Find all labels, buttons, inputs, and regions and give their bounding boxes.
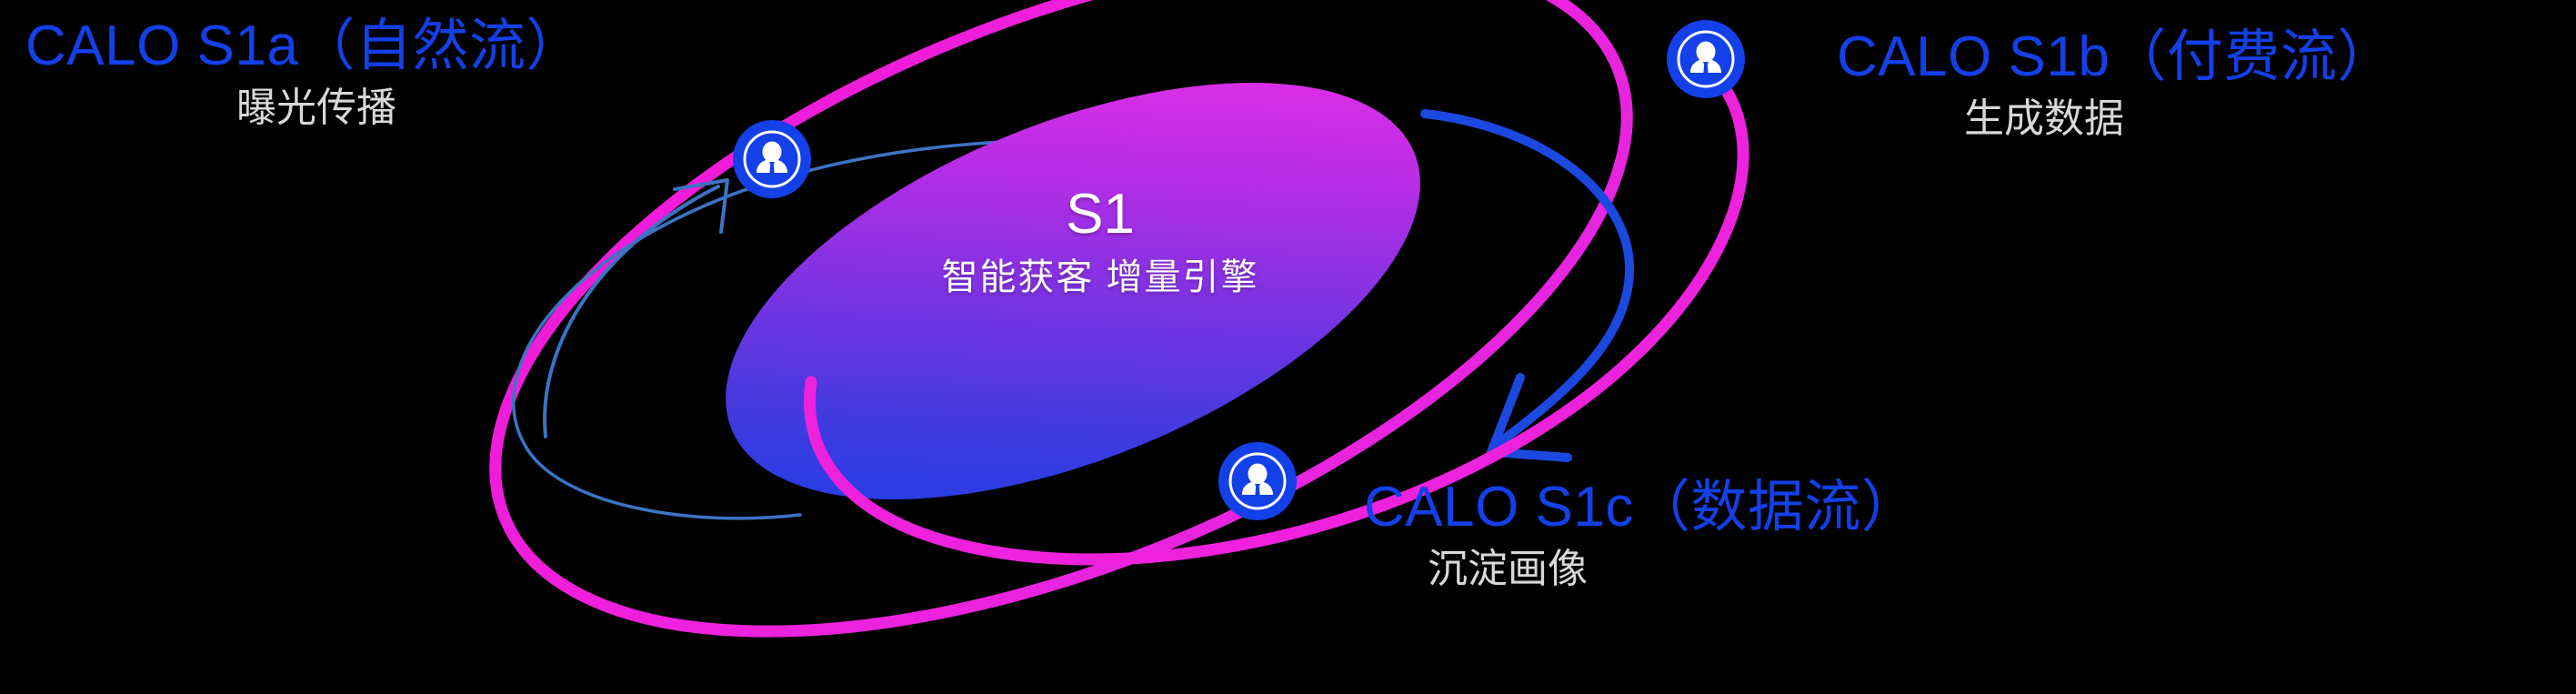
label-title-s1b: CALO S1b（付费流） [1837, 27, 2394, 86]
diagram-canvas: S1 智能获客 增量引擎 CALO S1a（自然流） 曝光传播 CALO S1b… [0, 0, 2576, 694]
core-ellipse [668, 0, 1478, 585]
label-subtitle-s1c: 沉淀画像 [1428, 548, 1918, 591]
label-subtitle-s1b: 生成数据 [1964, 97, 2394, 141]
label-group-s1b: CALO S1b（付费流） 生成数据 [1837, 27, 2394, 141]
node-icon-s1a[interactable] [733, 120, 811, 198]
label-group-s1c: CALO S1c（数据流） 沉淀画像 [1364, 478, 1918, 591]
node-icon-s1b[interactable] [1667, 20, 1745, 98]
label-title-s1c: CALO S1c（数据流） [1364, 478, 1918, 537]
inner-blue-arrow-down-right [1425, 114, 1629, 458]
label-subtitle-s1a: 曝光传播 [236, 86, 583, 130]
label-title-s1a: CALO S1a（自然流） [25, 16, 583, 75]
label-group-s1a: CALO S1a（自然流） 曝光传播 [25, 16, 583, 130]
inner-blue-arrow-up-left [545, 180, 727, 437]
node-icon-s1c[interactable] [1218, 442, 1297, 520]
